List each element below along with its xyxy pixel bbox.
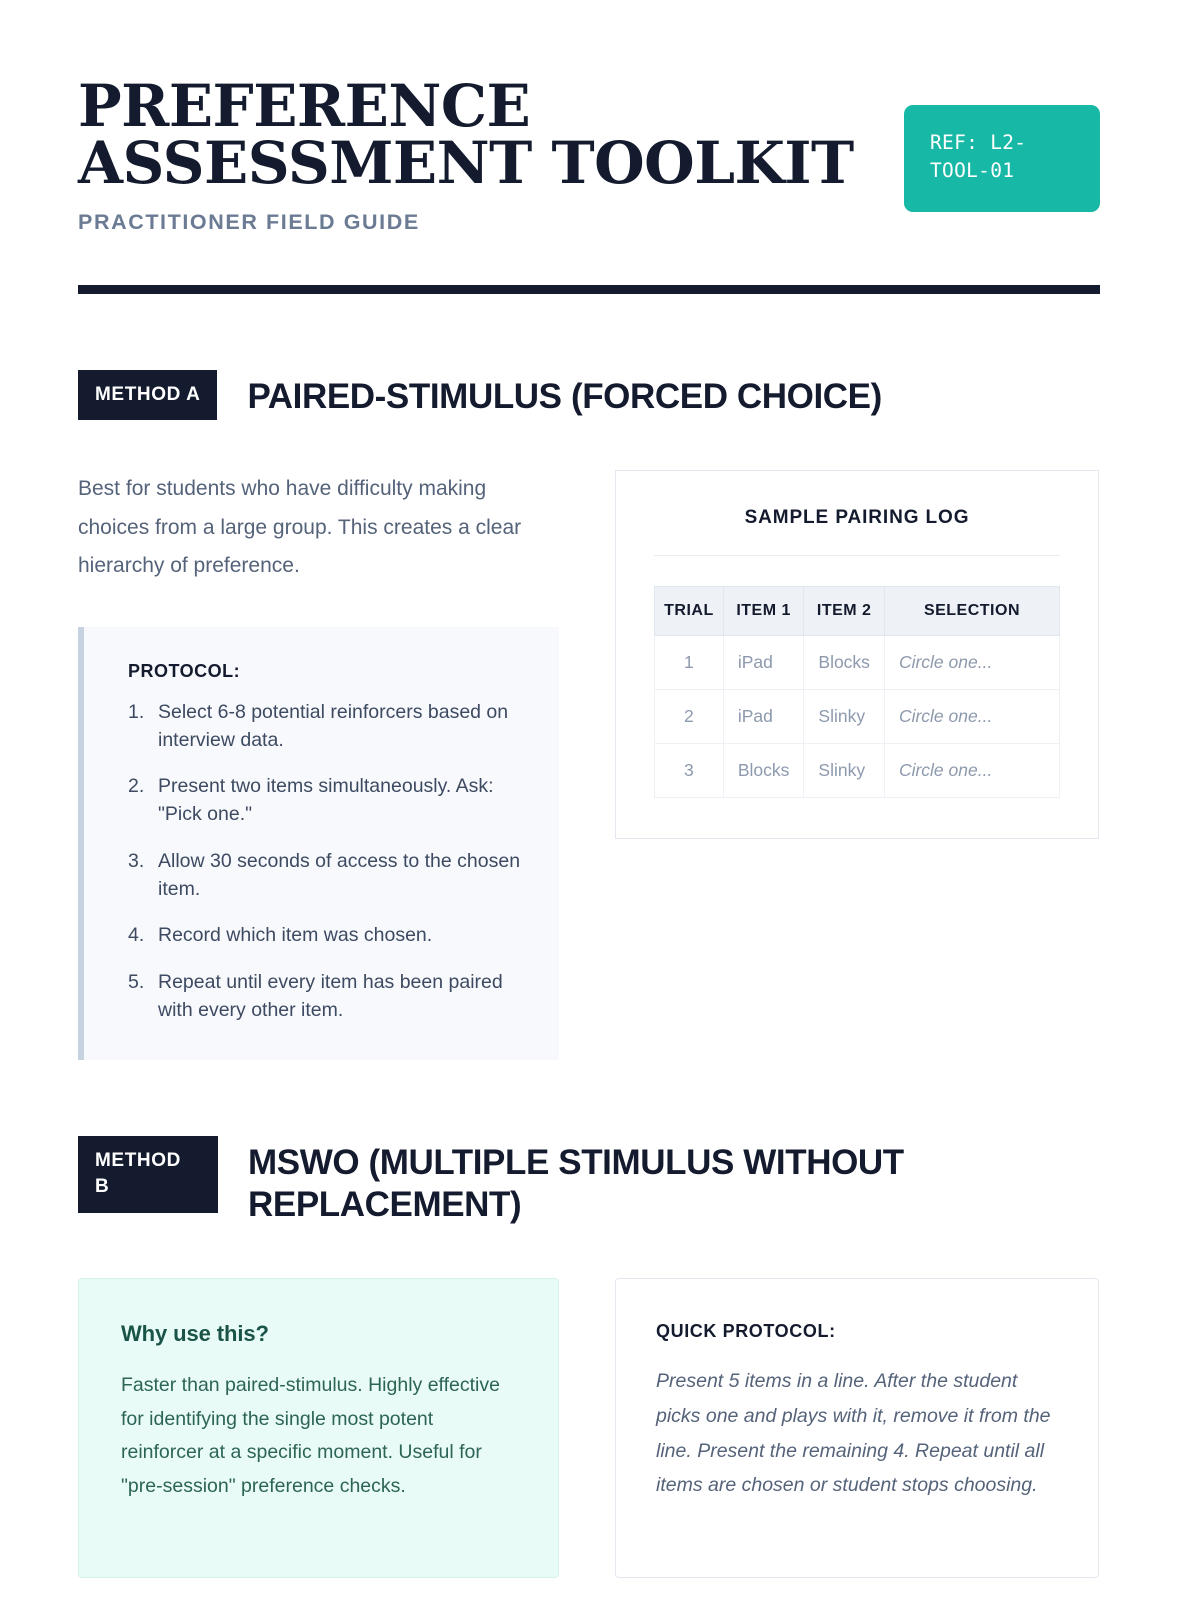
cell-item1: iPad xyxy=(723,690,804,744)
pairing-log-card: SAMPLE PAIRING LOG TRIAL ITEM 1 ITEM 2 S… xyxy=(615,470,1099,839)
method-a-protocol-box: PROTOCOL: Select 6-8 potential reinforce… xyxy=(78,627,559,1060)
protocol-label: PROTOCOL: xyxy=(128,661,529,682)
section-method-b: METHOD B MSWO (MULTIPLE STIMULUS WITHOUT… xyxy=(78,1136,1100,1578)
cell-selection[interactable]: Circle one... xyxy=(884,690,1059,744)
column-header-selection: SELECTION xyxy=(884,587,1059,636)
cell-item1: Blocks xyxy=(723,744,804,798)
list-item: Record which item was chosen. xyxy=(128,922,529,950)
cell-item1: iPad xyxy=(723,636,804,690)
method-a-title: PAIRED-STIMULUS (FORCED CHOICE) xyxy=(247,370,881,418)
cell-item2: Slinky xyxy=(804,690,885,744)
cell-item2: Slinky xyxy=(804,744,885,798)
protocol-step-list: Select 6-8 potential reinforcers based o… xyxy=(128,699,529,1024)
method-a-description: Best for students who have difficulty ma… xyxy=(78,470,559,585)
cell-selection[interactable]: Circle one... xyxy=(884,636,1059,690)
document-header: PREFERENCE ASSESSMENT TOOLKIT PRACTITION… xyxy=(78,74,1100,235)
method-a-header: METHOD A PAIRED-STIMULUS (FORCED CHOICE) xyxy=(78,370,1100,421)
page-subtitle: PRACTITIONER FIELD GUIDE xyxy=(78,210,864,235)
cell-item2: Blocks xyxy=(804,636,885,690)
document-page: PREFERENCE ASSESSMENT TOOLKIT PRACTITION… xyxy=(0,0,1200,1618)
column-header-item2: ITEM 2 xyxy=(804,587,885,636)
quick-protocol-body: Present 5 items in a line. After the stu… xyxy=(656,1364,1058,1503)
method-b-tag: METHOD B xyxy=(78,1136,218,1212)
method-a-columns: Best for students who have difficulty ma… xyxy=(78,470,1100,1060)
method-b-header: METHOD B MSWO (MULTIPLE STIMULUS WITHOUT… xyxy=(78,1136,1100,1226)
method-b-columns: Why use this? Faster than paired-stimulu… xyxy=(78,1278,1100,1578)
quick-protocol-card: QUICK PROTOCOL: Present 5 items in a lin… xyxy=(615,1278,1099,1578)
why-use-this-heading: Why use this? xyxy=(121,1321,516,1347)
pairing-log-table: TRIAL ITEM 1 ITEM 2 SELECTION 1 iPad Blo… xyxy=(654,586,1060,798)
method-a-tag: METHOD A xyxy=(78,370,217,421)
page-title: PREFERENCE ASSESSMENT TOOLKIT xyxy=(78,78,864,193)
table-row: 1 iPad Blocks Circle one... xyxy=(655,636,1060,690)
list-item: Select 6-8 potential reinforcers based o… xyxy=(128,699,529,754)
section-method-a: METHOD A PAIRED-STIMULUS (FORCED CHOICE)… xyxy=(78,370,1100,1060)
cell-trial: 2 xyxy=(655,690,724,744)
method-b-title: MSWO (MULTIPLE STIMULUS WITHOUT REPLACEM… xyxy=(248,1136,1100,1226)
method-b-right-column: QUICK PROTOCOL: Present 5 items in a lin… xyxy=(615,1278,1099,1578)
table-header-row: TRIAL ITEM 1 ITEM 2 SELECTION xyxy=(655,587,1060,636)
column-header-trial: TRIAL xyxy=(655,587,724,636)
why-use-this-body: Faster than paired-stimulus. Highly effe… xyxy=(121,1369,516,1503)
why-use-this-card: Why use this? Faster than paired-stimulu… xyxy=(78,1278,559,1578)
cell-trial: 1 xyxy=(655,636,724,690)
list-item: Allow 30 seconds of access to the chosen… xyxy=(128,848,529,903)
header-divider xyxy=(78,285,1100,294)
cell-trial: 3 xyxy=(655,744,724,798)
method-b-left-column: Why use this? Faster than paired-stimulu… xyxy=(78,1278,559,1578)
list-item: Repeat until every item has been paired … xyxy=(128,969,529,1024)
method-a-right-column: SAMPLE PAIRING LOG TRIAL ITEM 1 ITEM 2 S… xyxy=(615,470,1099,839)
list-item: Present two items simultaneously. Ask: "… xyxy=(128,773,529,828)
table-row: 2 iPad Slinky Circle one... xyxy=(655,690,1060,744)
quick-protocol-heading: QUICK PROTOCOL: xyxy=(656,1321,1058,1342)
column-header-item1: ITEM 1 xyxy=(723,587,804,636)
pairing-log-title: SAMPLE PAIRING LOG xyxy=(654,507,1060,556)
reference-badge: REF: L2-TOOL-01 xyxy=(904,105,1100,212)
table-row: 3 Blocks Slinky Circle one... xyxy=(655,744,1060,798)
cell-selection[interactable]: Circle one... xyxy=(884,744,1059,798)
header-text-block: PREFERENCE ASSESSMENT TOOLKIT PRACTITION… xyxy=(78,74,864,235)
method-a-left-column: Best for students who have difficulty ma… xyxy=(78,470,559,1060)
